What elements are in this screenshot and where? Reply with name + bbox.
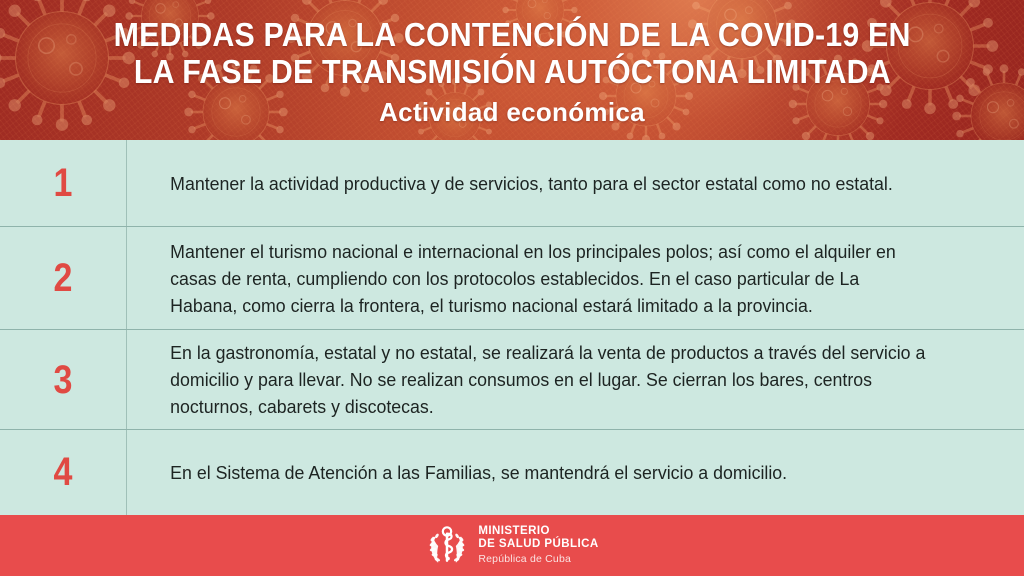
measure-text: En el Sistema de Atención a las Familias… (126, 459, 988, 486)
poster-footer: MINISTERIO DE SALUD PÚBLICA República de… (0, 515, 1024, 576)
measure-number: 4 (9, 452, 116, 492)
infographic-poster: MEDIDAS PARA LA CONTENCIÓN DE LA COVID-1… (0, 0, 1024, 576)
measure-text: En la gastronomía, estatal y no estatal,… (126, 339, 988, 420)
ministry-country: República de Cuba (478, 552, 598, 566)
ministry-name-line-2: DE SALUD PÚBLICA (478, 538, 598, 551)
ministry-logo: MINISTERIO DE SALUD PÚBLICA República de… (425, 524, 598, 568)
table-row: 2 Mantener el turismo nacional e interna… (0, 226, 1024, 329)
ministry-name-line-1: MINISTERIO (478, 525, 598, 538)
measure-number: 1 (9, 163, 116, 203)
table-row: 1 Mantener la actividad productiva y de … (0, 140, 1024, 226)
poster-header: MEDIDAS PARA LA CONTENCIÓN DE LA COVID-1… (0, 0, 1024, 140)
poster-title-line-1: MEDIDAS PARA LA CONTENCIÓN DE LA COVID-1… (114, 16, 911, 53)
measures-table: 1 Mantener la actividad productiva y de … (0, 140, 1024, 515)
asclepius-staff-laurel-wreath-icon (425, 524, 469, 568)
measure-text: Mantener la actividad productiva y de se… (126, 170, 988, 197)
measure-text: Mantener el turismo nacional e internaci… (126, 238, 988, 319)
poster-subtitle: Actividad económica (379, 98, 645, 126)
table-row: 4 En el Sistema de Atención a las Famili… (0, 429, 1024, 514)
measure-number: 3 (9, 360, 116, 400)
measure-number: 2 (9, 258, 116, 298)
table-row: 3 En la gastronomía, estatal y no estata… (0, 329, 1024, 429)
poster-title-line-2: LA FASE DE TRANSMISIÓN AUTÓCTONA LIMITAD… (134, 53, 891, 90)
